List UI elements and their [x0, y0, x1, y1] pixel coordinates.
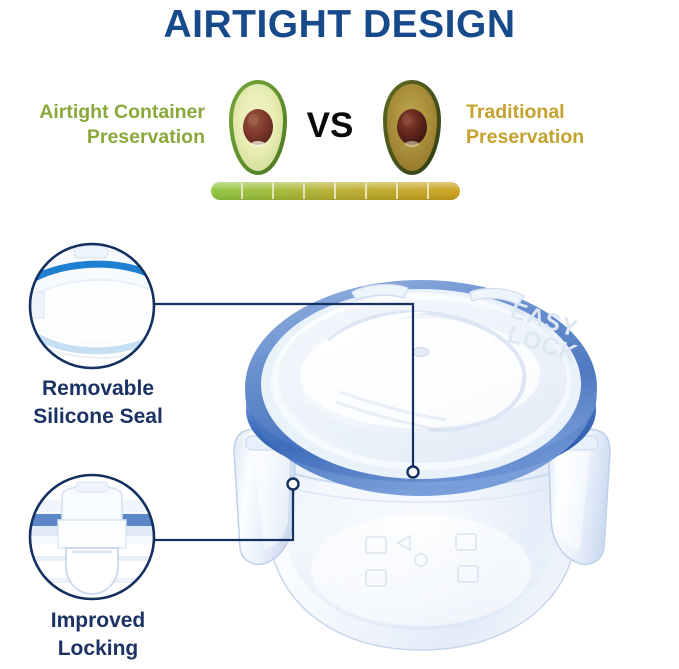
- callout-seal-anchor-dot: [408, 467, 419, 478]
- callout-lock-label-line1: Improved: [3, 607, 193, 635]
- container-base-disc: [311, 514, 531, 626]
- product-illustration: EASY LOCK: [0, 0, 679, 669]
- callout-seal-label-line2: Silicone Seal: [3, 403, 193, 431]
- callout-lock-anchor-dot: [288, 479, 299, 490]
- lid-center-vent: [413, 348, 429, 357]
- locking-clip-hook: [66, 548, 118, 594]
- callout-lock-label: Improved Locking: [3, 607, 193, 663]
- callout-seal-label-line1: Removable: [3, 375, 193, 403]
- infographic-canvas: AIRTIGHT DESIGN Airtight Container Prese…: [0, 0, 679, 669]
- callout-lock-label-line2: Locking: [3, 635, 193, 663]
- callout-seal-label: Removable Silicone Seal: [3, 375, 193, 431]
- silicone-seal-detail-icon: [22, 244, 181, 368]
